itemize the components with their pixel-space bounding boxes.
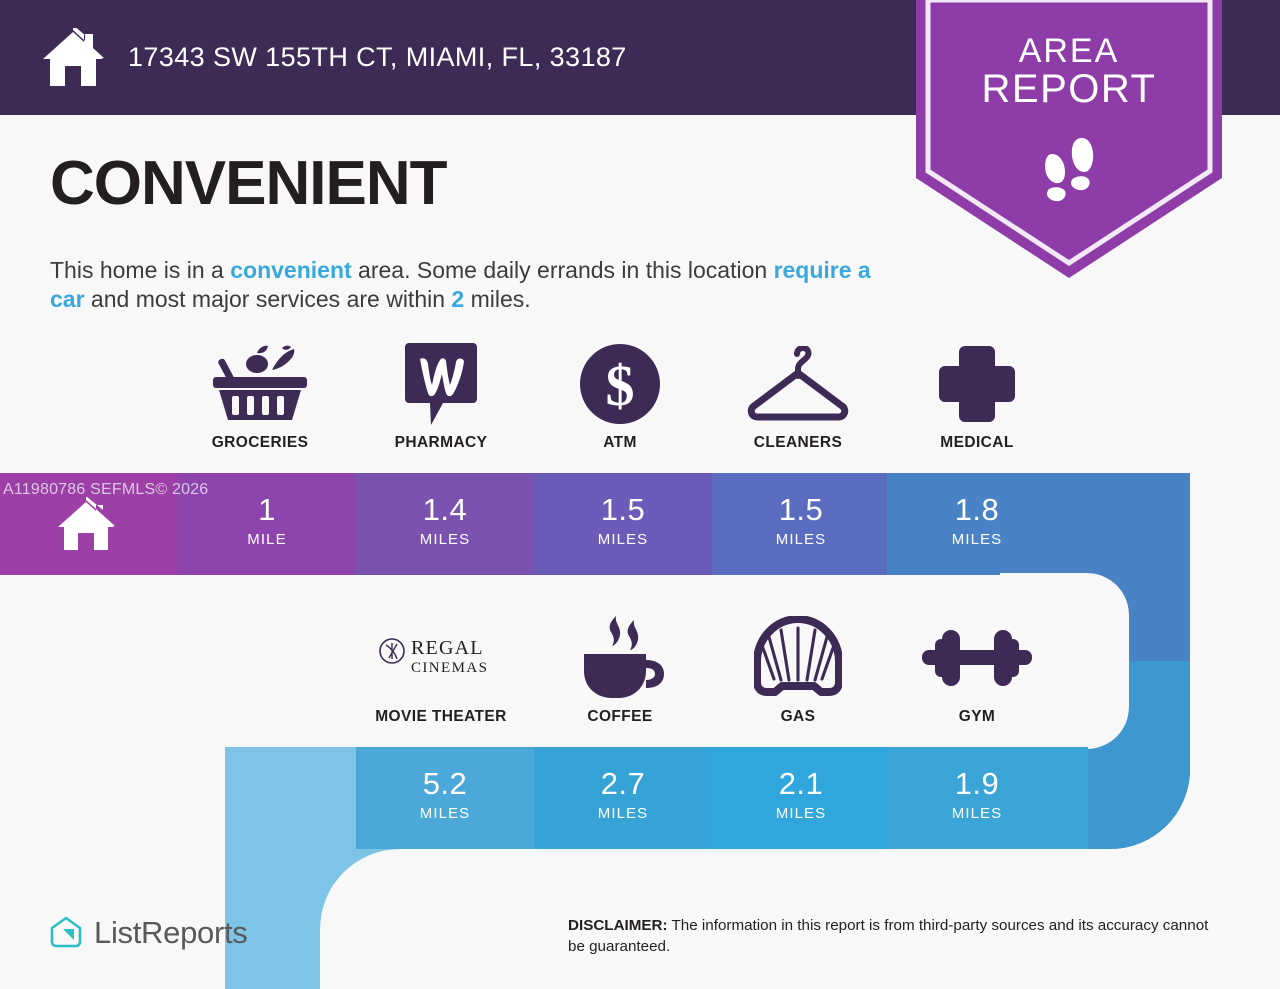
listreports-house-icon xyxy=(48,915,84,951)
distance-unit: MILES xyxy=(356,532,534,547)
distance-unit: MILE xyxy=(178,532,356,547)
distance-unit: MILES xyxy=(712,532,890,547)
distance-unit: MILES xyxy=(712,806,890,821)
listreports-logo: ListReports xyxy=(48,915,248,951)
distance-pharmacy: 1.4 MILES xyxy=(356,494,534,547)
distance-groceries: 1 MILE xyxy=(178,494,356,547)
mls-watermark: A11980786 SEFMLS© 2026 xyxy=(3,481,208,499)
footprints-icon xyxy=(1034,132,1104,206)
distance-gas: 2.1 MILES xyxy=(712,768,890,821)
distance-unit: MILES xyxy=(534,532,712,547)
distance-coffee: 2.7 MILES xyxy=(534,768,712,821)
distance-value: 1.5 xyxy=(712,494,890,525)
distance-unit: MILES xyxy=(356,806,534,821)
distance-unit: MILES xyxy=(888,532,1066,547)
area-report-badge: AREA REPORT xyxy=(916,0,1222,278)
distance-atm: 1.5 MILES xyxy=(534,494,712,547)
distance-movie-theater: 5.2 MILES xyxy=(356,768,534,821)
distance-value: 5.2 xyxy=(356,768,534,799)
distance-cleaners: 1.5 MILES xyxy=(712,494,890,547)
distance-unit: MILES xyxy=(888,806,1066,821)
distance-value: 2.1 xyxy=(712,768,890,799)
listreports-wordmark: ListReports xyxy=(94,915,248,951)
home-icon xyxy=(55,497,117,552)
distance-value: 2.7 xyxy=(534,768,712,799)
area-report-page: 17343 SW 155TH CT, MIAMI, FL, 33187 AREA… xyxy=(0,0,1280,989)
distance-unit: MILES xyxy=(534,806,712,821)
disclaimer-label: DISCLAIMER: xyxy=(568,917,668,934)
distance-value: 1.4 xyxy=(356,494,534,525)
disclaimer: DISCLAIMER: The information in this repo… xyxy=(568,916,1228,957)
distance-medical: 1.8 MILES xyxy=(888,494,1066,547)
distance-gym: 1.9 MILES xyxy=(888,768,1066,821)
distance-value: 1.5 xyxy=(534,494,712,525)
distance-value: 1.8 xyxy=(888,494,1066,525)
distance-value: 1.9 xyxy=(888,768,1066,799)
